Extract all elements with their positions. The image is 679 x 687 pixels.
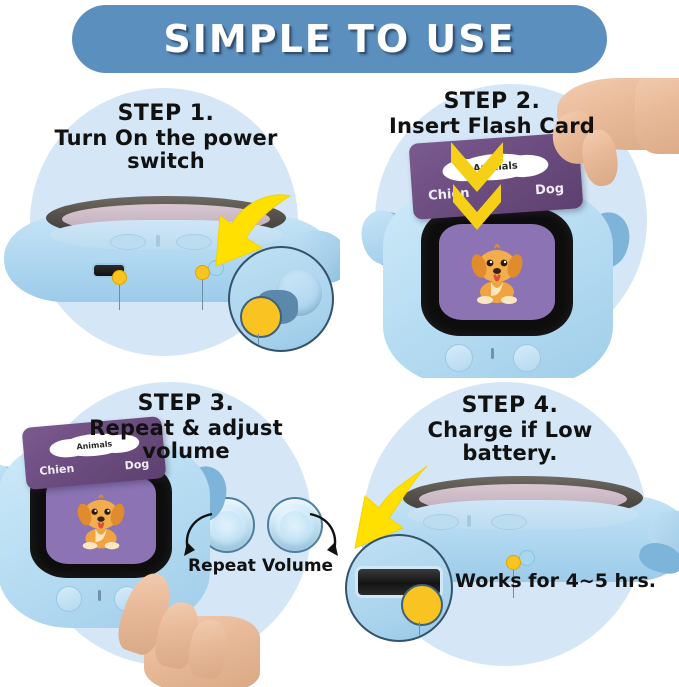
device-mic: [156, 235, 160, 247]
step-2-heading: STEP 2.: [347, 90, 637, 115]
repeat-arrow-icon: [182, 512, 216, 560]
repeat-label: Repeat: [188, 556, 256, 576]
step-4-panel: STEP 4. Charge if Low battery.: [339, 378, 679, 687]
device-front-mic: [98, 590, 101, 601]
infographic-root: SIMPLE TO USE STEP 1. Turn On the power …: [0, 0, 679, 687]
step-3-heading: STEP 3.: [46, 392, 326, 417]
callout-leader-usb: [119, 284, 120, 310]
callout-dot-usb: [112, 270, 127, 285]
step-1-text: STEP 1. Turn On the power switch: [26, 102, 306, 174]
device-mic: [467, 515, 471, 527]
yellow-chevron-down-icon: [443, 140, 511, 252]
step-2-text: STEP 2. Insert Flash Card: [347, 90, 637, 138]
magnifier-leader: [419, 622, 420, 642]
magnifier-circle-icon: [228, 246, 334, 352]
step-3-line1: Repeat & adjust: [46, 417, 326, 441]
callout-dot-power: [506, 555, 521, 570]
step-3-panel: STEP 3. Repeat & adjust volume: [0, 378, 340, 687]
volume-label: Volume: [262, 556, 333, 576]
hand-pointing-finger-icon: [110, 564, 260, 687]
power-switch-knob: [519, 550, 535, 566]
device-top-button-left: [110, 234, 146, 250]
magnified-power-switch: [240, 296, 282, 338]
step-4-text: STEP 4. Charge if Low battery.: [375, 394, 645, 466]
magnifier-leader: [258, 334, 259, 352]
step-2-panel: STEP 2. Insert Flash Card Animals Chien …: [339, 78, 679, 378]
magnifier-circle-icon: [345, 534, 453, 642]
step-1-heading: STEP 1.: [26, 102, 306, 127]
device-front-mic: [491, 348, 494, 359]
device-screen: [46, 476, 156, 564]
puppy-illustration-icon: [68, 487, 134, 553]
device-button-left[interactable]: [445, 344, 473, 372]
step-3-line2: volume: [46, 440, 326, 464]
step-3-text: STEP 3. Repeat & adjust volume: [46, 392, 326, 464]
step-4-line2: battery.: [375, 442, 645, 466]
callout-leader-power: [202, 280, 203, 310]
step-1-line2: switch: [26, 150, 306, 174]
magnified-charge-indicator: [401, 584, 443, 626]
step-4-heading: STEP 4.: [375, 394, 645, 419]
card-left-word: Chien: [39, 462, 75, 478]
step-1-line1: Turn On the power: [26, 127, 306, 151]
device-button-repeat[interactable]: [56, 586, 82, 612]
battery-life-note: Works for 4~5 hrs.: [455, 570, 656, 592]
device-top-button-right: [491, 514, 527, 530]
step-1-panel: STEP 1. Turn On the power switch: [0, 78, 340, 378]
page-title: SIMPLE TO USE: [163, 17, 515, 61]
header-banner: SIMPLE TO USE: [72, 5, 607, 73]
step-4-line1: Charge if Low: [375, 419, 645, 443]
step-2-line1: Insert Flash Card: [347, 115, 637, 139]
device-button-right[interactable]: [513, 344, 541, 372]
volume-arrow-icon: [306, 512, 340, 560]
hand-wrist: [635, 78, 679, 154]
